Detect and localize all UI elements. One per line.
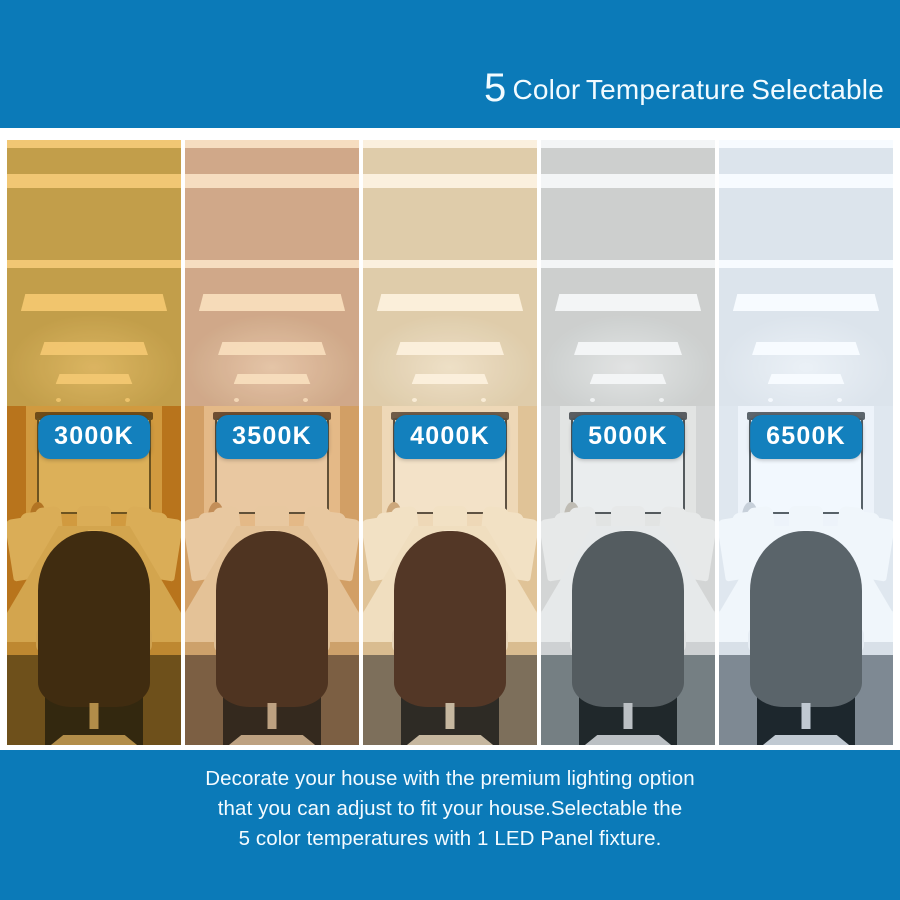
chair-backrest (38, 531, 150, 707)
led-panel-fixture (768, 374, 845, 384)
page-title: 5Color Temperature Selectable (484, 68, 884, 108)
footer-line-1: Decorate your house with the premium lig… (0, 764, 900, 794)
ceiling-plane (7, 268, 181, 406)
led-panel-fixture (574, 342, 682, 355)
footer-line-3: 5 color temperatures with 1 LED Panel fi… (0, 824, 900, 854)
ceiling-plane (541, 268, 715, 406)
title-count: 5 (484, 66, 506, 110)
led-panel-fixture (555, 294, 701, 311)
led-panel-fixture (412, 374, 489, 384)
product-infographic: 5Color Temperature Selectable (0, 0, 900, 900)
ceiling-slab-upper (363, 148, 537, 174)
chair-backrest (216, 531, 328, 707)
title-text: Color Temperature Selectable (512, 74, 884, 105)
chair-base (402, 735, 498, 745)
led-panel-fixture (21, 294, 167, 311)
downlight-icon (768, 398, 773, 402)
footer-description: Decorate your house with the premium lig… (0, 764, 900, 854)
color-temperature-strip: 3000K (7, 140, 893, 745)
temperature-badge[interactable]: 3000K (38, 415, 150, 459)
header-banner: 5Color Temperature Selectable (0, 0, 900, 128)
chair-base (580, 735, 676, 745)
chair-backrest (394, 531, 506, 707)
led-panel-fixture (396, 342, 504, 355)
executive-chair (572, 531, 684, 745)
ceiling-slab-upper (541, 148, 715, 174)
led-panel-fixture (234, 374, 311, 384)
executive-chair (216, 531, 328, 745)
led-panel-fixture (752, 342, 860, 355)
temperature-panel-3000k[interactable]: 3000K (7, 140, 181, 745)
chair-base (758, 735, 854, 745)
ceiling-slab-mid (363, 188, 537, 260)
footer-line-2: that you can adjust to fit your house.Se… (0, 794, 900, 824)
footer-banner: Decorate your house with the premium lig… (0, 750, 900, 900)
executive-chair (394, 531, 506, 745)
chair-backrest (572, 531, 684, 707)
led-panel-fixture (56, 374, 133, 384)
ceiling-slab-mid (541, 188, 715, 260)
executive-chair (750, 531, 862, 745)
led-panel-fixture (199, 294, 345, 311)
ceiling-slab-mid (185, 188, 359, 260)
downlight-icon (56, 398, 61, 402)
ceiling-slab-upper (7, 148, 181, 174)
chair-base (46, 735, 142, 745)
executive-chair (38, 531, 150, 745)
led-panel-fixture (733, 294, 879, 311)
led-panel-fixture (590, 374, 667, 384)
temperature-panel-6500k[interactable]: 6500K (719, 140, 893, 745)
ceiling-plane (363, 268, 537, 406)
chair-post (90, 703, 99, 729)
chair-post (446, 703, 455, 729)
ceiling-plane (719, 268, 893, 406)
temperature-badge[interactable]: 3500K (216, 415, 328, 459)
downlight-icon (234, 398, 239, 402)
led-panel-fixture (40, 342, 148, 355)
temperature-badge[interactable]: 6500K (750, 415, 862, 459)
led-panel-fixture (218, 342, 326, 355)
temperature-panel-3500k[interactable]: 3500K (185, 140, 359, 745)
ceiling-slab-mid (719, 188, 893, 260)
chair-backrest (750, 531, 862, 707)
ceiling-slab-upper (185, 148, 359, 174)
led-panel-fixture (377, 294, 523, 311)
chair-base (224, 735, 320, 745)
temperature-badge[interactable]: 4000K (394, 415, 506, 459)
temperature-badge[interactable]: 5000K (572, 415, 684, 459)
chair-post (802, 703, 811, 729)
temperature-panel-5000k[interactable]: 5000K (541, 140, 715, 745)
ceiling-slab-upper (719, 148, 893, 174)
chair-post (268, 703, 277, 729)
downlight-icon (412, 398, 417, 402)
chair-post (624, 703, 633, 729)
downlight-icon (590, 398, 595, 402)
temperature-panel-4000k[interactable]: 4000K (363, 140, 537, 745)
ceiling-slab-mid (7, 188, 181, 260)
ceiling-plane (185, 268, 359, 406)
